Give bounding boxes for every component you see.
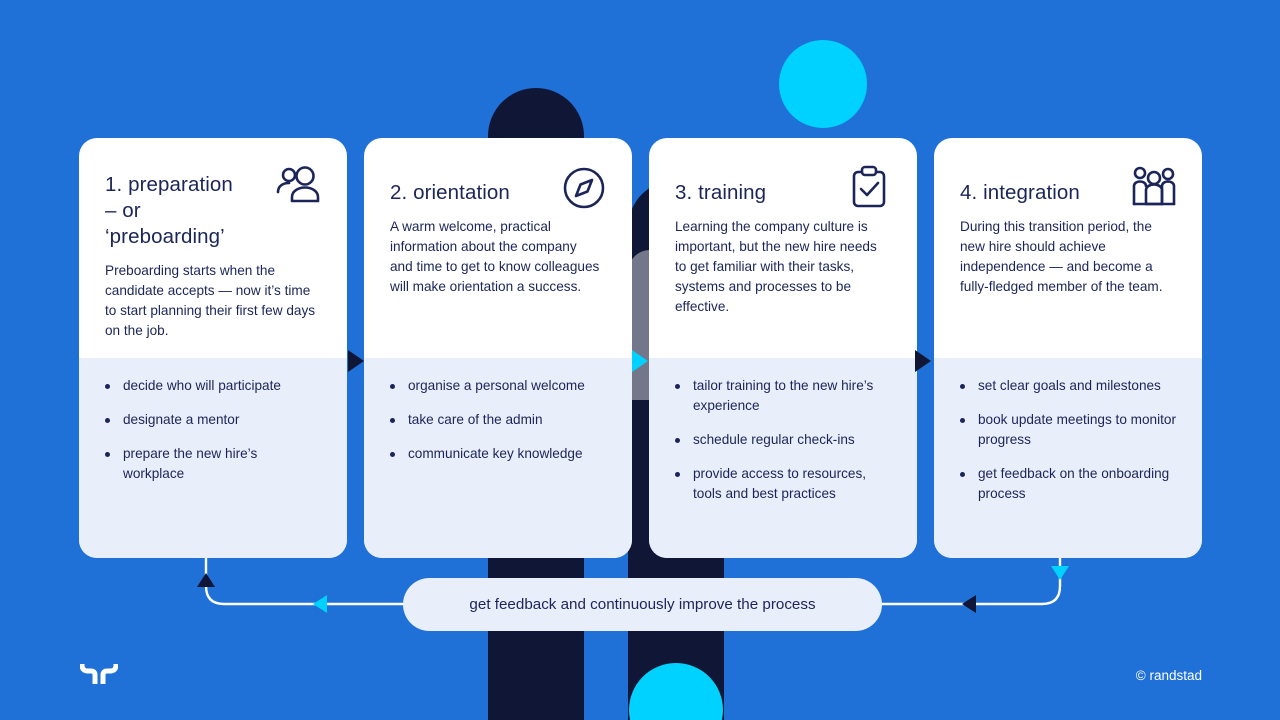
loop-arrow-right-horizontal-icon [962, 595, 976, 613]
loop-arrow-left-horizontal-icon [313, 595, 327, 613]
step-arrow-3-to-4-icon [915, 350, 931, 372]
loop-arrow-left-vertical-icon [197, 573, 215, 587]
step-arrow-1-to-2-icon [348, 350, 364, 372]
loop-arrow-right-vertical-icon [1051, 566, 1069, 580]
step-arrow-2-to-3-icon [632, 350, 648, 372]
feedback-loop-pill[interactable]: get feedback and continuously improve th… [403, 578, 882, 631]
feedback-loop-label: get feedback and continuously improve th… [469, 596, 815, 613]
